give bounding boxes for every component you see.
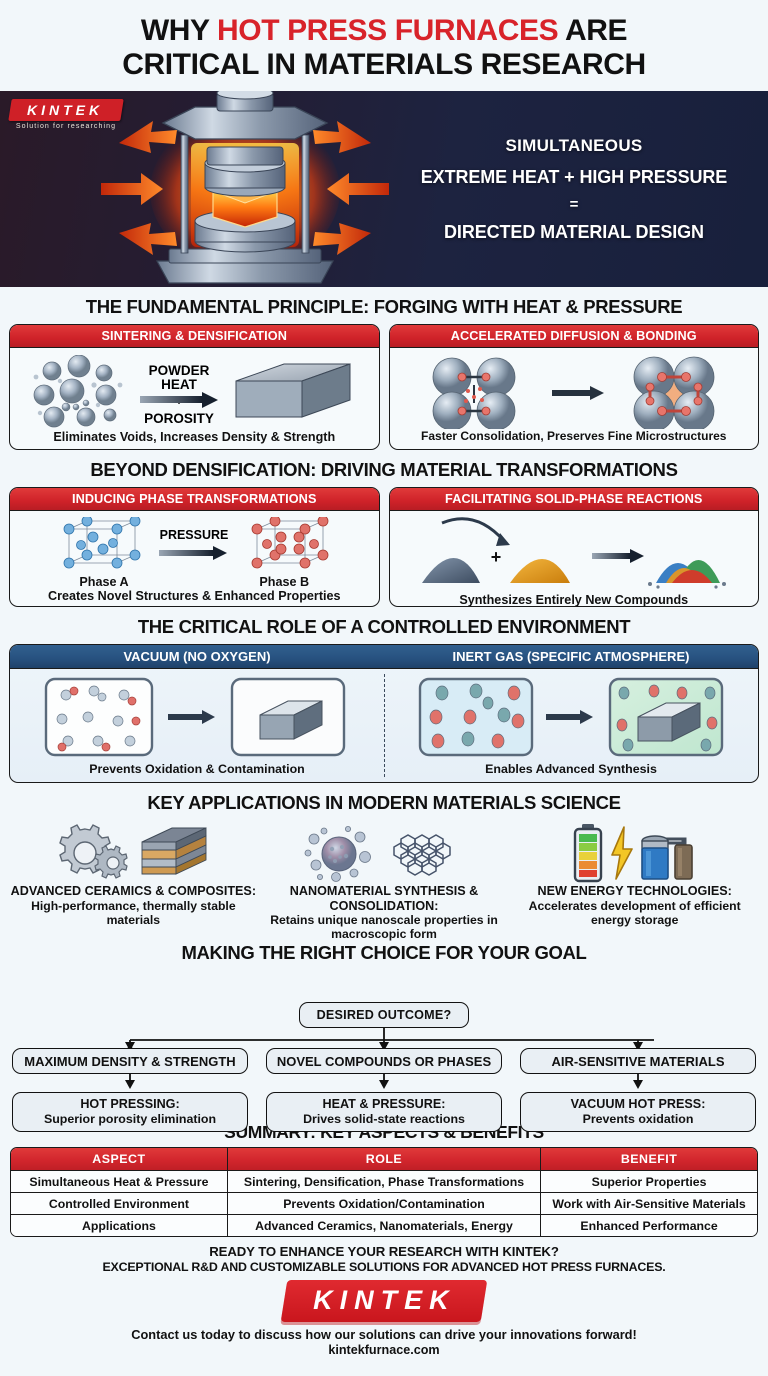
title-line-1: WHY HOT PRESS FURNACES ARE bbox=[24, 14, 744, 48]
environment-vacuum-caption: Prevents Oxidation & Contamination bbox=[89, 762, 305, 776]
card-sintering-caption: Eliminates Voids, Increases Density & St… bbox=[53, 430, 335, 444]
decision-branch-3-condition[interactable]: AIR-SENSITIVE MATERIALS bbox=[520, 1048, 756, 1074]
table-row: Applications Advanced Ceramics, Nanomate… bbox=[11, 1215, 757, 1237]
nanoparticle-cluster-icon bbox=[302, 823, 376, 883]
title-highlight: HOT PRESS FURNACES bbox=[217, 14, 558, 47]
footer-kintek-logo: KINTEK bbox=[284, 1280, 484, 1322]
footer-contact-text: Contact us today to discuss how our solu… bbox=[14, 1327, 754, 1342]
hero-line-1: SIMULTANEOUS bbox=[394, 137, 754, 155]
application-nano-title: NANOMATERIAL SYNTHESIS & CONSOLIDATION: bbox=[259, 884, 510, 913]
application-nanomaterials: NANOMATERIAL SYNTHESIS & CONSOLIDATION: … bbox=[259, 822, 510, 941]
decision-result-3-title: VACUUM HOT PRESS: bbox=[571, 1097, 706, 1112]
card-diffusion-header: ACCELERATED DIFFUSION & BONDING bbox=[390, 325, 759, 348]
footer-website[interactable]: kintekfurnace.com bbox=[14, 1343, 754, 1357]
section-title-decision: MAKING THE RIGHT CHOICE FOR YOUR GOAL bbox=[0, 942, 768, 964]
card-reactions-header: FACILITATING SOLID-PHASE REACTIONS bbox=[390, 488, 759, 511]
summary-table-wrap: ASPECT ROLE BENEFIT Simultaneous Heat & … bbox=[10, 1147, 758, 1237]
sintered-block bbox=[236, 364, 350, 417]
battery-level-icon bbox=[571, 823, 605, 883]
kintek-logo-text: KINTEK bbox=[27, 102, 103, 118]
card-diffusion-caption: Faster Consolidation, Preserves Fine Mic… bbox=[421, 430, 726, 444]
summary-r2-role: Prevents Oxidation/Contamination bbox=[227, 1193, 540, 1215]
application-energy-desc: Accelerates development of efficient ene… bbox=[509, 899, 760, 927]
label-powder: POWDER bbox=[149, 363, 210, 378]
principle-card-row: SINTERING & DENSIFICATION bbox=[0, 324, 768, 450]
hero-line-2: EXTREME HEAT + HIGH PRESSURE bbox=[394, 168, 754, 187]
decision-result-2-title: HEAT & PRESSURE: bbox=[323, 1097, 446, 1112]
label-phase-a: Phase A bbox=[79, 575, 128, 589]
application-energy: NEW ENERGY TECHNOLOGIES: Accelerates dev… bbox=[509, 822, 760, 941]
hero-kintek-logo: KINTEK Solution for researching bbox=[10, 99, 122, 130]
sintering-diagram: POWDER HEAT POROSITY bbox=[24, 355, 364, 429]
environment-header-row: VACUUM (NO OXYGEN) INERT GAS (SPECIFIC A… bbox=[10, 645, 758, 669]
label-plus: + bbox=[490, 547, 501, 567]
battery-cells-icon bbox=[637, 823, 699, 883]
card-sintering-header: SINTERING & DENSIFICATION bbox=[10, 325, 379, 348]
kintek-logo-badge: KINTEK bbox=[8, 99, 123, 121]
decision-result-1-title: HOT PRESSING: bbox=[80, 1097, 179, 1112]
decision-result-3-desc: Prevents oxidation bbox=[583, 1112, 694, 1127]
decision-branch-1-result[interactable]: HOT PRESSING: Superior porosity eliminat… bbox=[12, 1092, 248, 1132]
title-line-2: CRITICAL IN MATERIALS RESEARCH bbox=[24, 48, 744, 82]
gears-icon bbox=[55, 823, 130, 883]
summary-header-benefit: BENEFIT bbox=[541, 1148, 757, 1171]
footer-logo-text: KINTEK bbox=[313, 1285, 456, 1316]
card-phase-header: INDUCING PHASE TRANSFORMATIONS bbox=[10, 488, 379, 511]
label-phase-b: Phase B bbox=[259, 575, 309, 589]
powder-reaction-diagram: + bbox=[404, 517, 744, 593]
layered-composite-icon bbox=[134, 824, 212, 882]
decision-branch-2-result[interactable]: HEAT & PRESSURE: Drives solid-state reac… bbox=[266, 1092, 502, 1132]
environment-card: VACUUM (NO OXYGEN) INERT GAS (SPECIFIC A… bbox=[9, 644, 759, 783]
compound-powders bbox=[648, 560, 726, 589]
decision-branch-3-result[interactable]: VACUUM HOT PRESS: Prevents oxidation bbox=[520, 1092, 756, 1132]
summary-r1-aspect: Simultaneous Heat & Pressure bbox=[11, 1171, 227, 1193]
vacuum-diagram bbox=[32, 675, 362, 759]
graphene-lattice-icon bbox=[380, 825, 466, 881]
phase-transformation-diagram: PRESSURE bbox=[29, 517, 359, 577]
summary-r3-aspect: Applications bbox=[11, 1215, 227, 1237]
hero-text-block: SIMULTANEOUS EXTREME HEAT + HIGH PRESSUR… bbox=[394, 137, 754, 241]
diffusion-before bbox=[433, 358, 515, 429]
lightning-bolt-icon bbox=[609, 825, 633, 881]
hero-banner: KINTEK Solution for researching SIMULTAN… bbox=[0, 91, 768, 287]
hero-line-4: DIRECTED MATERIAL DESIGN bbox=[394, 222, 754, 241]
footer: READY TO ENHANCE YOUR RESEARCH WITH KINT… bbox=[0, 1237, 768, 1357]
summary-table-header-row: ASPECT ROLE BENEFIT bbox=[11, 1148, 757, 1171]
section-title-environment: THE CRITICAL ROLE OF A CONTROLLED ENVIRO… bbox=[0, 616, 768, 638]
kintek-logo-tagline: Solution for researching bbox=[10, 123, 122, 130]
decision-branch-1-condition[interactable]: MAXIMUM DENSITY & STRENGTH bbox=[12, 1048, 248, 1074]
summary-r3-benefit: Enhanced Performance bbox=[541, 1215, 757, 1237]
summary-header-aspect: ASPECT bbox=[11, 1148, 227, 1171]
label-pressure: PRESSURE bbox=[160, 528, 229, 542]
decision-tree: DESIRED OUTCOME? MAXIMUM DENSITY & STREN… bbox=[0, 970, 768, 1120]
summary-r2-benefit: Work with Air-Sensitive Materials bbox=[541, 1193, 757, 1215]
hot-press-furnace-illustration bbox=[95, 91, 395, 287]
decision-result-1-desc: Superior porosity elimination bbox=[44, 1112, 216, 1127]
card-diffusion: ACCELERATED DIFFUSION & BONDING bbox=[389, 324, 760, 450]
card-sintering: SINTERING & DENSIFICATION bbox=[9, 324, 380, 450]
card-phase-caption: Creates Novel Structures & Enhanced Prop… bbox=[48, 589, 341, 603]
decision-root-node[interactable]: DESIRED OUTCOME? bbox=[299, 1002, 469, 1028]
diffusion-bonding-diagram bbox=[404, 355, 744, 429]
summary-r3-role: Advanced Ceramics, Nanomaterials, Energy bbox=[227, 1215, 540, 1237]
application-ceramics: ADVANCED CERAMICS & COMPOSITES: High-per… bbox=[8, 822, 259, 941]
decision-branch-2-condition[interactable]: NOVEL COMPOUNDS OR PHASES bbox=[266, 1048, 502, 1074]
footer-cta-line-2: EXCEPTIONAL R&D AND CUSTOMIZABLE SOLUTIO… bbox=[14, 1260, 754, 1274]
environment-inert-panel: Enables Advanced Synthesis bbox=[384, 669, 758, 782]
summary-header-role: ROLE bbox=[227, 1148, 540, 1171]
title-part-pre: WHY bbox=[141, 14, 217, 47]
diffusion-after bbox=[634, 357, 714, 429]
infographic-page: WHY HOT PRESS FURNACES ARE CRITICAL IN M… bbox=[0, 0, 768, 1376]
summary-table: ASPECT ROLE BENEFIT Simultaneous Heat & … bbox=[11, 1148, 757, 1236]
section-title-principle: THE FUNDAMENTAL PRINCIPLE: FORGING WITH … bbox=[0, 296, 768, 318]
footer-logo-badge: KINTEK bbox=[281, 1280, 488, 1322]
title-part-post: ARE bbox=[558, 14, 627, 47]
table-row: Controlled Environment Prevents Oxidatio… bbox=[11, 1193, 757, 1215]
section-title-applications: KEY APPLICATIONS IN MODERN MATERIALS SCI… bbox=[0, 792, 768, 814]
summary-r1-benefit: Superior Properties bbox=[541, 1171, 757, 1193]
beyond-card-row: INDUCING PHASE TRANSFORMATIONS bbox=[0, 487, 768, 607]
application-ceramics-title: ADVANCED CERAMICS & COMPOSITES: bbox=[11, 884, 256, 898]
applications-row: ADVANCED CERAMICS & COMPOSITES: High-per… bbox=[0, 820, 768, 941]
card-reactions-caption: Synthesizes Entirely New Compounds bbox=[459, 593, 688, 607]
card-phase-transformations: INDUCING PHASE TRANSFORMATIONS bbox=[9, 487, 380, 607]
environment-header-vacuum: VACUUM (NO OXYGEN) bbox=[10, 645, 384, 668]
decision-result-2-desc: Drives solid-state reactions bbox=[303, 1112, 465, 1127]
summary-r1-role: Sintering, Densification, Phase Transfor… bbox=[227, 1171, 540, 1193]
environment-inert-caption: Enables Advanced Synthesis bbox=[485, 762, 657, 776]
summary-r2-aspect: Controlled Environment bbox=[11, 1193, 227, 1215]
card-solid-phase-reactions: FACILITATING SOLID-PHASE REACTIONS + bbox=[389, 487, 760, 607]
section-title-beyond: BEYOND DENSIFICATION: DRIVING MATERIAL T… bbox=[0, 459, 768, 481]
inert-gas-diagram bbox=[406, 675, 736, 759]
footer-cta-line-1: READY TO ENHANCE YOUR RESEARCH WITH KINT… bbox=[14, 1244, 754, 1259]
table-row: Simultaneous Heat & Pressure Sintering, … bbox=[11, 1171, 757, 1193]
label-heat: HEAT bbox=[161, 377, 198, 392]
application-nano-desc: Retains unique nanoscale properties in m… bbox=[259, 913, 510, 941]
application-energy-title: NEW ENERGY TECHNOLOGIES: bbox=[538, 884, 732, 898]
environment-header-inert: INERT GAS (SPECIFIC ATMOSPHERE) bbox=[384, 645, 758, 668]
hero-equals: = bbox=[394, 197, 754, 213]
page-title: WHY HOT PRESS FURNACES ARE CRITICAL IN M… bbox=[0, 0, 768, 91]
label-porosity: POROSITY bbox=[144, 411, 214, 426]
environment-vacuum-panel: Prevents Oxidation & Contamination bbox=[10, 669, 384, 782]
application-ceramics-desc: High-performance, thermally stable mater… bbox=[8, 899, 259, 927]
